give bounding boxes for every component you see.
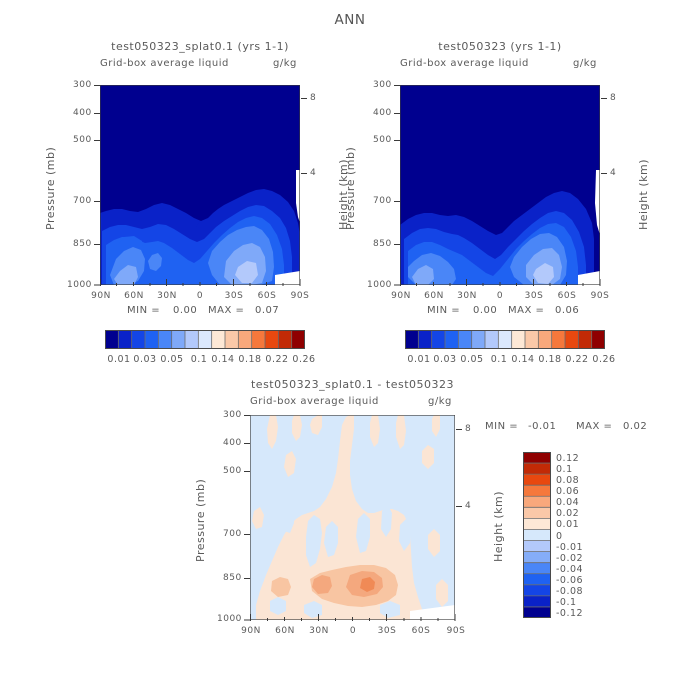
panel-3-units: g/kg: [428, 396, 452, 407]
colorbar-cell: [472, 330, 486, 349]
vertical-colorbar-label: -0.02: [556, 553, 583, 564]
colorbar-cell: [198, 330, 212, 349]
x-tick-90n: 90N: [86, 291, 116, 301]
colorbar-cell: [523, 496, 551, 507]
vertical-colorbar-label: -0.12: [556, 608, 583, 619]
panel-1-y2-tick-8: 8: [310, 93, 316, 103]
panel-2-variable-label: Grid-box average liquid: [400, 58, 529, 69]
panel-3-max-value: 0.02: [623, 421, 647, 432]
panel-2-max-label: MAX =: [508, 305, 544, 316]
colorbar-cell: [523, 474, 551, 485]
panel-2-y2-axis-label: Height (km): [637, 159, 650, 230]
panel-3-min-value: -0.01: [528, 421, 556, 432]
colorbar-cell: [158, 330, 172, 349]
colorbar-cell: [105, 330, 119, 349]
p2-y-tick-1000: 1000: [367, 280, 392, 290]
colorbar-cell: [238, 330, 252, 349]
p3-x-tick-90n: 90N: [236, 626, 266, 636]
colorbar-cell: [578, 330, 592, 349]
colorbar-cell: [523, 607, 551, 618]
cb1-label-7: 0.26: [284, 354, 324, 365]
p2-x-tick-90n: 90N: [386, 291, 416, 301]
panel-1-x-ticks: [100, 279, 301, 286]
vertical-colorbar-label: 0.12: [556, 453, 579, 464]
vertical-colorbar-label: 0.01: [556, 519, 579, 530]
panel-3-max-label: MAX =: [576, 421, 612, 432]
vertical-colorbar-label: 0.1: [556, 464, 573, 475]
panel-3-plot: [250, 415, 455, 620]
colorbar-cell: [523, 507, 551, 518]
x-tick-30n: 30N: [152, 291, 182, 301]
p2-y-tick-700: 700: [373, 196, 392, 206]
p3-x-tick-0: 0: [338, 626, 368, 636]
panel-2-colorbar[interactable]: [405, 330, 605, 349]
p2-y-tick-500: 500: [373, 135, 392, 145]
p2-y-tick-850: 850: [373, 239, 392, 249]
colorbar-cell: [512, 330, 526, 349]
vertical-colorbar-label: 0.02: [556, 508, 579, 519]
colorbar-cell: [278, 330, 292, 349]
panel-1-y2-ticks: [300, 85, 307, 286]
colorbar-cell: [523, 596, 551, 607]
p3-y-tick-500: 500: [223, 466, 242, 476]
vertical-colorbar-label: -0.04: [556, 564, 583, 575]
panel-1-plot: [100, 85, 300, 285]
vertical-colorbar-label: -0.1: [556, 597, 577, 608]
panel-3-x-ticks: [250, 614, 456, 621]
colorbar-cell: [523, 552, 551, 563]
colorbar-cell: [418, 330, 432, 349]
panel-3-variable-label: Grid-box average liquid: [250, 396, 379, 407]
colorbar-cell: [458, 330, 472, 349]
x-tick-60n: 60N: [119, 291, 149, 301]
colorbar-cell: [523, 518, 551, 529]
colorbar-cell: [523, 563, 551, 574]
colorbar-cell: [432, 330, 446, 349]
colorbar-cell: [225, 330, 239, 349]
colorbar-cell: [525, 330, 539, 349]
vertical-colorbar-label: 0.06: [556, 486, 579, 497]
colorbar-cell: [132, 330, 146, 349]
p3-x-tick-60s: 60S: [406, 626, 436, 636]
panel-2-min-value: 0.00: [473, 305, 497, 316]
panel-3-y-ticks: [244, 415, 251, 621]
p2-x-tick-0: 0: [485, 291, 515, 301]
panel-3-y2-axis-label: Height (km): [492, 491, 505, 562]
x-tick-30s: 30S: [219, 291, 249, 301]
p3-y-tick-400: 400: [223, 438, 242, 448]
colorbar-cell: [523, 452, 551, 463]
p2-x-tick-30n: 30N: [452, 291, 482, 301]
p3-x-tick-30s: 30S: [372, 626, 402, 636]
panel-3-y2-tick-8: 8: [465, 424, 471, 434]
colorbar-cell: [445, 330, 459, 349]
panel-1-min-label: MIN =: [127, 305, 160, 316]
panel-1-max-label: MAX =: [208, 305, 244, 316]
panel-2-plot: [400, 85, 600, 285]
panel-3-title: test050323_splat0.1 - test050323: [235, 378, 470, 391]
vertical-colorbar-label: -0.08: [556, 586, 583, 597]
colorbar-cell: [265, 330, 279, 349]
colorbar-cell: [523, 529, 551, 540]
colorbar-cell: [552, 330, 566, 349]
colorbar-cell: [292, 330, 305, 349]
colorbar-cell: [498, 330, 512, 349]
p3-x-tick-60n: 60N: [270, 626, 300, 636]
colorbar-cell: [523, 463, 551, 474]
panel-3-colorbar[interactable]: [523, 452, 551, 618]
figure-canvas: ANN test050323_splat0.1 (yrs 1-1) Grid-b…: [0, 0, 700, 700]
y-tick-1000: 1000: [67, 280, 92, 290]
p2-x-tick-60s: 60S: [552, 291, 582, 301]
p2-y-tick-300: 300: [373, 80, 392, 90]
p2-x-tick-60n: 60N: [419, 291, 449, 301]
colorbar-cell: [565, 330, 579, 349]
panel-1-variable-label: Grid-box average liquid: [100, 58, 229, 69]
panel-2-title: test050323 (yrs 1-1): [390, 40, 610, 53]
p3-x-tick-30n: 30N: [304, 626, 334, 636]
colorbar-cell: [185, 330, 199, 349]
p2-x-tick-90s: 90S: [585, 291, 615, 301]
panel-2-y-ticks: [394, 85, 401, 286]
colorbar-cell: [538, 330, 552, 349]
y-tick-300: 300: [73, 80, 92, 90]
p3-y-tick-1000: 1000: [217, 614, 242, 624]
colorbar-cell: [485, 330, 499, 349]
p3-y-tick-700: 700: [223, 529, 242, 539]
panel-2-y-axis-label: Pressure (mb): [344, 147, 357, 230]
colorbar-cell: [592, 330, 605, 349]
colorbar-cell: [145, 330, 159, 349]
p2-y-tick-400: 400: [373, 108, 392, 118]
panel-2-min-label: MIN =: [427, 305, 460, 316]
y-tick-700: 700: [73, 196, 92, 206]
panel-1-y-axis-label: Pressure (mb): [44, 147, 57, 230]
y-tick-850: 850: [73, 239, 92, 249]
panel-3-min-label: MIN =: [485, 421, 518, 432]
vertical-colorbar-label: -0.06: [556, 575, 583, 586]
panel-1-min-value: 0.00: [173, 305, 197, 316]
panel-1-units: g/kg: [273, 58, 297, 69]
panel-3-y2-ticks: [455, 415, 462, 621]
p3-x-tick-90s: 90S: [441, 626, 471, 636]
colorbar-cell: [405, 330, 419, 349]
colorbar-cell: [252, 330, 266, 349]
panel-1-colorbar[interactable]: [105, 330, 305, 349]
colorbar-cell: [523, 485, 551, 496]
panel-1-y2-tick-4: 4: [310, 168, 316, 178]
x-tick-90s: 90S: [285, 291, 315, 301]
p2-x-tick-30s: 30S: [519, 291, 549, 301]
panel-1-max-value: 0.07: [255, 305, 279, 316]
colorbar-cell: [523, 585, 551, 596]
x-tick-60s: 60S: [252, 291, 282, 301]
colorbar-cell: [172, 330, 186, 349]
colorbar-cell: [523, 574, 551, 585]
panel-2-units: g/kg: [573, 58, 597, 69]
panel-3-y2-tick-4: 4: [465, 501, 471, 511]
panel-1-y-ticks: [94, 85, 101, 286]
p3-y-tick-300: 300: [223, 410, 242, 420]
cb2-label-7: 0.26: [584, 354, 624, 365]
vertical-colorbar-label: 0.08: [556, 475, 579, 486]
vertical-colorbar-label: 0: [556, 531, 563, 542]
main-title: ANN: [300, 12, 400, 28]
p3-y-tick-850: 850: [223, 573, 242, 583]
panel-2-max-value: 0.06: [555, 305, 579, 316]
vertical-colorbar-label: 0.04: [556, 497, 579, 508]
panel-2-y2-tick-4: 4: [610, 168, 616, 178]
vertical-colorbar-label: -0.01: [556, 542, 583, 553]
colorbar-cell: [212, 330, 226, 349]
panel-2-y2-ticks: [600, 85, 607, 286]
colorbar-cell: [523, 541, 551, 552]
x-tick-0: 0: [185, 291, 215, 301]
panel-2-x-ticks: [400, 279, 601, 286]
y-tick-400: 400: [73, 108, 92, 118]
y-tick-500: 500: [73, 135, 92, 145]
panel-2-y2-tick-8: 8: [610, 93, 616, 103]
panel-3-y-axis-label: Pressure (mb): [194, 479, 207, 562]
colorbar-cell: [118, 330, 132, 349]
panel-1-title: test050323_splat0.1 (yrs 1-1): [90, 40, 310, 53]
